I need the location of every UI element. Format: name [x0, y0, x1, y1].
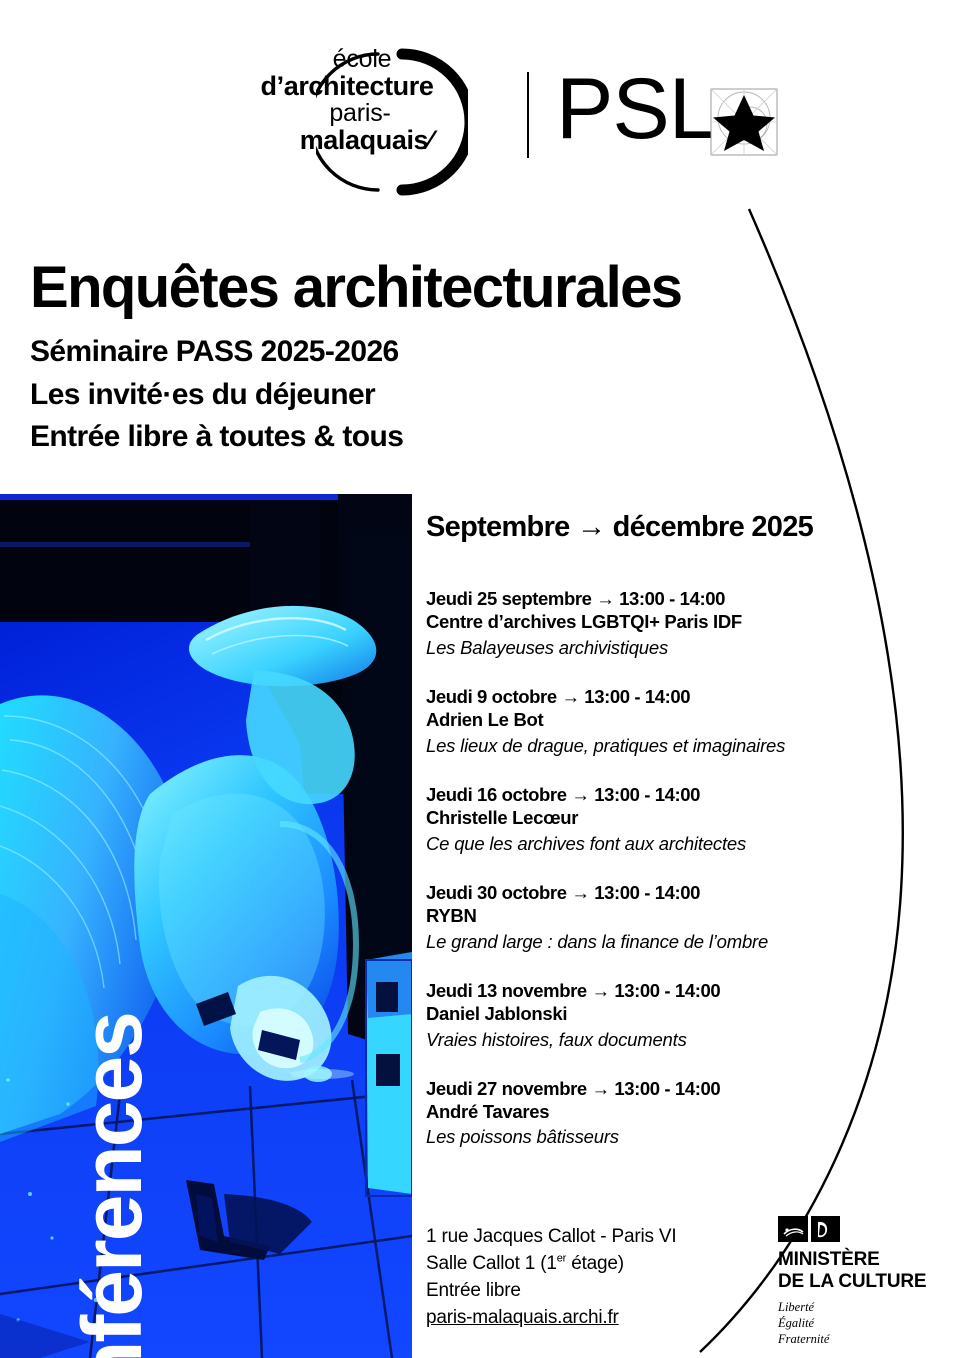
conferences-label: conférences — [70, 786, 154, 1358]
ministry-name-line1: MINISTÈRE — [778, 1249, 948, 1271]
event-speaker: Adrien Le Bot — [426, 709, 896, 732]
event-topic: Les lieux de drague, pratiques et imagin… — [426, 734, 896, 758]
ministry-name: MINISTÈRE DE LA CULTURE — [778, 1249, 948, 1292]
subtitle-seminar: Séminaire PASS 2025-2026 — [30, 331, 830, 374]
events-list: Jeudi 25 septembre → 13:00 - 14:00 Centr… — [426, 588, 896, 1176]
event-speaker: André Tavares — [426, 1101, 896, 1124]
marianne-icon — [778, 1216, 840, 1242]
motto-fraternite: Fraternité — [778, 1331, 948, 1347]
address-room-a: Salle Callot 1 (1 — [426, 1253, 557, 1274]
address-entry: Entrée libre — [426, 1278, 676, 1305]
ministry-motto: Liberté Égalité Fraternité — [778, 1299, 948, 1347]
event-date: Jeudi 25 septembre → 13:00 - 14:00 — [426, 588, 896, 611]
event-speaker: Daniel Jablonski — [426, 1003, 896, 1026]
motto-liberte: Liberté — [778, 1299, 948, 1315]
list-item: Jeudi 13 novembre → 13:00 - 14:00 Daniel… — [426, 980, 896, 1052]
event-topic: Les Balayeuses archivistiques — [426, 636, 896, 660]
list-item: Jeudi 25 septembre → 13:00 - 14:00 Centr… — [426, 588, 896, 660]
photo-illustration — [0, 494, 412, 1358]
event-topic: Les poissons bâtisseurs — [426, 1125, 896, 1149]
event-topic: Ce que les archives font aux architectes — [426, 832, 896, 856]
list-item: Jeudi 27 novembre → 13:00 - 14:00 André … — [426, 1078, 896, 1150]
event-topic: Le grand large : dans la finance de l’om… — [426, 930, 896, 954]
page-title: Enquêtes architecturales — [30, 258, 830, 317]
school-line-2: d’architecture — [214, 72, 480, 100]
ministry-logo: MINISTÈRE DE LA CULTURE Liberté Égalité … — [778, 1216, 948, 1347]
school-logo: école d’architecture paris- malaquais⁄ — [218, 24, 518, 194]
title-block: Enquêtes architecturales Séminaire PASS … — [30, 258, 830, 459]
psl-wordmark: PSL — [556, 66, 716, 152]
date-range-heading: Septembre → décembre 2025 — [426, 511, 813, 544]
photo-panel: conférences — [0, 494, 412, 1358]
school-line-4: malaquais⁄ — [252, 126, 480, 154]
event-date: Jeudi 30 octobre → 13:00 - 14:00 — [426, 882, 896, 905]
event-date: Jeudi 9 octobre → 13:00 - 14:00 — [426, 686, 896, 709]
ministry-name-line2: DE LA CULTURE — [778, 1271, 948, 1293]
address-room-sup: er — [557, 1253, 566, 1265]
venue-address: 1 rue Jacques Callot - Paris VI Salle Ca… — [426, 1224, 676, 1332]
website-link[interactable]: paris-malaquais.archi.fr — [426, 1305, 676, 1332]
event-speaker: Christelle Lecœur — [426, 807, 896, 830]
event-date: Jeudi 13 novembre → 13:00 - 14:00 — [426, 980, 896, 1003]
list-item: Jeudi 9 octobre → 13:00 - 14:00 Adrien L… — [426, 686, 896, 758]
psl-star-icon — [710, 88, 778, 156]
address-street: 1 rue Jacques Callot - Paris VI — [426, 1224, 676, 1251]
school-line-3: paris- — [240, 100, 480, 126]
poster: école d’architecture paris- malaquais⁄ P… — [0, 0, 958, 1358]
address-room: Salle Callot 1 (1er étage) — [426, 1251, 676, 1278]
event-date: Jeudi 16 octobre → 13:00 - 14:00 — [426, 784, 896, 807]
event-speaker: Centre d’archives LGBTQI+ Paris IDF — [426, 611, 896, 634]
list-item: Jeudi 16 octobre → 13:00 - 14:00 Christe… — [426, 784, 896, 856]
subtitle-group: Séminaire PASS 2025-2026 Les invité·es d… — [30, 331, 830, 459]
school-logo-text: école d’architecture paris- malaquais⁄ — [218, 46, 480, 154]
motto-egalite: Égalité — [778, 1315, 948, 1331]
logo-divider-icon — [527, 72, 529, 158]
list-item: Jeudi 30 octobre → 13:00 - 14:00 RYBN Le… — [426, 882, 896, 954]
header: école d’architecture paris- malaquais⁄ P… — [0, 0, 958, 200]
address-room-b: étage) — [566, 1253, 624, 1274]
event-date: Jeudi 27 novembre → 13:00 - 14:00 — [426, 1078, 896, 1101]
school-line-1: école — [244, 46, 480, 72]
subtitle-guests: Les invité·es du déjeuner — [30, 374, 830, 417]
event-topic: Vraies histoires, faux documents — [426, 1028, 896, 1052]
subtitle-free-entry: Entrée libre à toutes & tous — [30, 416, 830, 459]
event-speaker: RYBN — [426, 905, 896, 928]
